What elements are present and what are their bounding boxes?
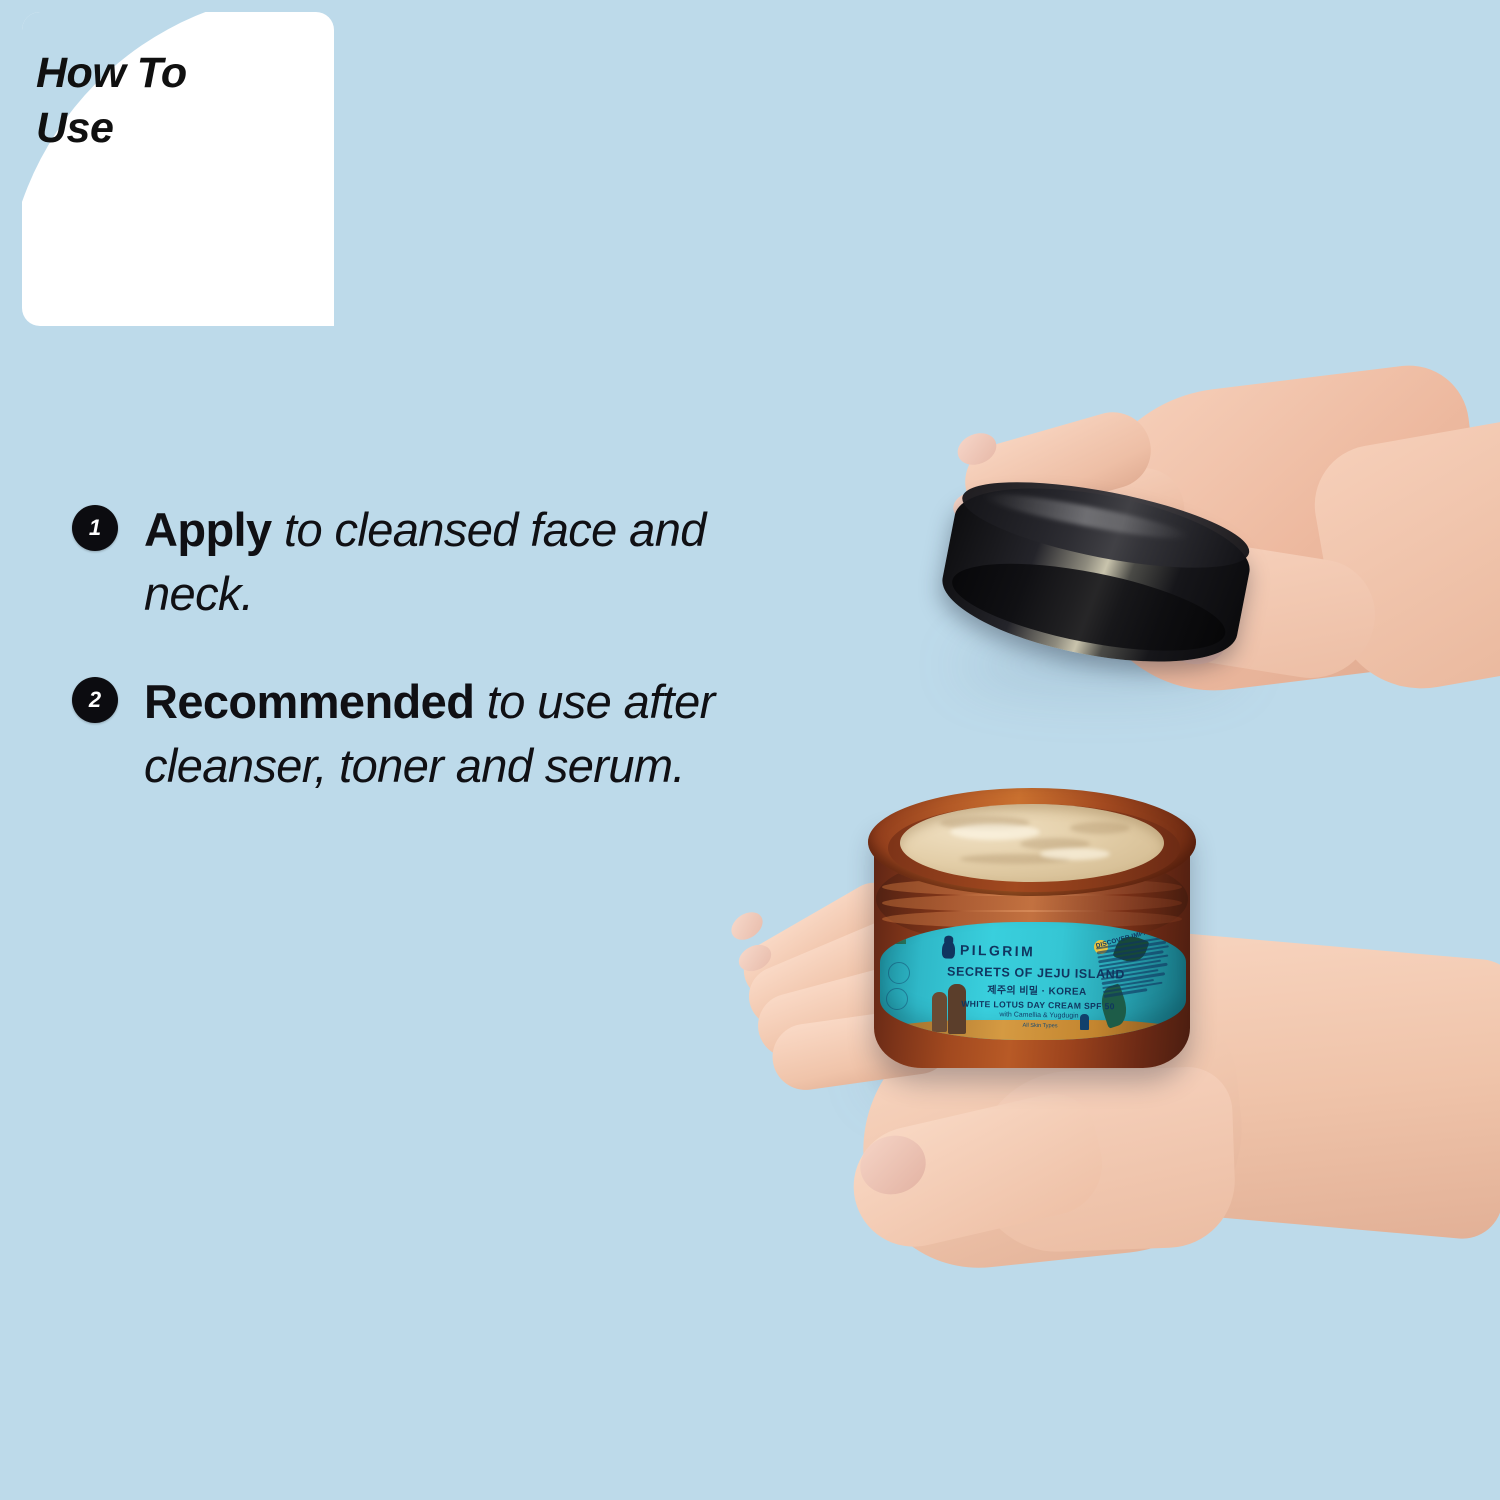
label-right-panel: DISCOVER IMPROVED COMPLEXION	[1091, 926, 1186, 1038]
step-text: Recommended to use after cleanser, toner…	[144, 670, 804, 798]
brand-lockup: PILGRIM	[942, 940, 1092, 961]
step-lead: Apply	[144, 503, 272, 556]
certification-badge-icon	[888, 962, 910, 984]
cream-surface	[900, 804, 1164, 882]
page-title: How To Use	[36, 46, 187, 156]
step-text: Apply to cleansed face and neck.	[144, 498, 804, 626]
list-item: 1 Apply to cleansed face and neck.	[72, 498, 832, 626]
product-label: CLEAN & VEGAN PILGRIM SECRETS OF JEJU IS…	[880, 922, 1186, 1040]
product-jar: CLEAN & VEGAN PILGRIM SECRETS OF JEJU IS…	[866, 782, 1198, 1072]
step-lead: Recommended	[144, 675, 474, 728]
list-item: 2 Recommended to use after cleanser, ton…	[72, 670, 832, 798]
pilgrim-logo-icon	[942, 940, 955, 958]
step-number-badge: 1	[72, 505, 118, 551]
steps-list: 1 Apply to cleansed face and neck. 2 Rec…	[72, 498, 832, 842]
step-number-badge: 2	[72, 677, 118, 723]
brand-name: PILGRIM	[960, 942, 1035, 960]
certification-badge-icon	[886, 988, 908, 1010]
fingernail	[726, 907, 768, 946]
marketing-image-canvas: CLEAN & VEGAN PILGRIM SECRETS OF JEJU IS…	[0, 0, 1500, 1500]
